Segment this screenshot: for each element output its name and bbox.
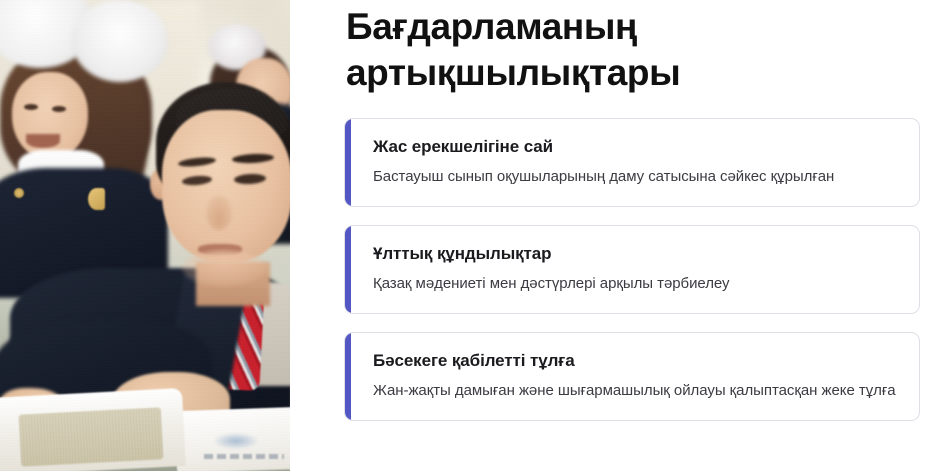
accent-bar-icon (345, 226, 351, 313)
advantages-content: Бағдарламаның артықшылықтары Жас ерекшел… (290, 0, 934, 471)
photo-girl-mouth (26, 134, 60, 148)
advantage-card-2-title: Ұлттық құндылықтар (373, 243, 899, 265)
accent-bar-icon (345, 119, 351, 206)
advantage-card-2[interactable]: Ұлттық құндылықтар Қазақ мәдениеті мен д… (344, 225, 920, 314)
advantage-card-1-description: Бастауыш сынып оқушыларының даму сатысын… (373, 165, 899, 188)
advantage-card-3-description: Жан-жақты дамыған және шығармашылық ойла… (373, 379, 899, 402)
photo-boy-chin (182, 250, 266, 286)
photo-girl-badge (88, 188, 105, 210)
advantage-card-2-description: Қазақ мәдениеті мен дәстүрлері арқылы тә… (373, 272, 899, 295)
accent-bar-icon (345, 333, 351, 420)
photo-book-right-mark (214, 433, 258, 449)
page-title: Бағдарламаның артықшылықтары (346, 4, 906, 96)
photo-girl-pin (14, 188, 24, 198)
advantage-card-1-title: Жас ерекшелігіне сай (373, 136, 899, 158)
advantage-card-1[interactable]: Жас ерекшелігіне сай Бастауыш сынып оқуш… (344, 118, 920, 207)
photo-boy-face (162, 110, 290, 262)
program-advantages-page: Бағдарламаның артықшылықтары Жас ерекшел… (0, 0, 934, 471)
classroom-students-photo (0, 0, 290, 471)
photo-scene (0, 0, 290, 471)
photo-boy-nose (206, 196, 232, 230)
advantage-card-3[interactable]: Бәсекеге қабілетті тұлға Жан-жақты дамығ… (344, 332, 920, 421)
photo-book-right-text (204, 454, 284, 459)
photo-girl-eye-right (52, 106, 66, 112)
photo-open-book-page (19, 407, 164, 466)
photo-girl-eye-left (24, 104, 38, 110)
photo-girl-bow-right (72, 0, 168, 82)
advantage-card-3-title: Бәсекеге қабілетті тұлға (373, 350, 899, 372)
advantages-card-list: Жас ерекшелігіне сай Бастауыш сынып оқуш… (344, 118, 920, 421)
